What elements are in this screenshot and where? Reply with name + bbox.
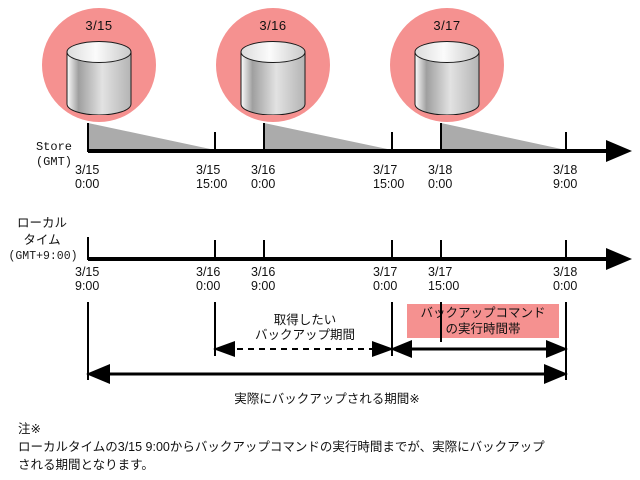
store-node-0: 3/15 xyxy=(42,8,156,122)
store-tick-label-1: 3/15 15:00 xyxy=(196,163,227,191)
store-node-1: 3/16 xyxy=(216,8,330,122)
local-tick-label-1: 3/16 0:00 xyxy=(196,265,220,293)
store-node-2: 3/17 xyxy=(390,8,504,122)
store-tick-label-5: 3/18 9:00 xyxy=(553,163,577,191)
footnote-marker: 注※ xyxy=(18,421,41,438)
retention-wedge-0 xyxy=(88,123,215,150)
database-cylinder-icon xyxy=(66,41,132,115)
local-tick-label-4: 3/17 15:00 xyxy=(428,265,459,293)
store-node-label: 3/16 xyxy=(216,18,330,33)
database-cylinder-icon xyxy=(240,41,306,115)
retention-wedge-1 xyxy=(264,123,392,150)
store-node-label: 3/17 xyxy=(390,18,504,33)
store-tick-label-3: 3/17 15:00 xyxy=(373,163,404,191)
diagram-canvas: 3/15 3/16 xyxy=(0,0,640,480)
footnote-line-1: ローカルタイムの3/15 9:00からバックアップコマンドの実行時間までが、実際… xyxy=(18,439,545,456)
store-timeline-axis xyxy=(0,120,640,165)
retention-wedge-2 xyxy=(441,123,566,150)
store-tick-label-2: 3/16 0:00 xyxy=(251,163,275,191)
footnote-line-2: される期間となります。 xyxy=(18,457,154,474)
local-tick-label-3: 3/17 0:00 xyxy=(373,265,397,293)
local-tick-label-2: 3/16 9:00 xyxy=(251,265,275,293)
span-annotation-layer xyxy=(0,296,640,396)
store-node-label: 3/15 xyxy=(42,18,156,33)
actual-period-label: 実際にバックアップされる期間※ xyxy=(88,392,566,407)
store-tick-label-0: 3/15 0:00 xyxy=(75,163,99,191)
store-tick-label-4: 3/18 0:00 xyxy=(428,163,452,191)
database-cylinder-icon xyxy=(414,41,480,115)
local-tick-label-5: 3/18 0:00 xyxy=(553,265,577,293)
local-tick-label-0: 3/15 9:00 xyxy=(75,265,99,293)
